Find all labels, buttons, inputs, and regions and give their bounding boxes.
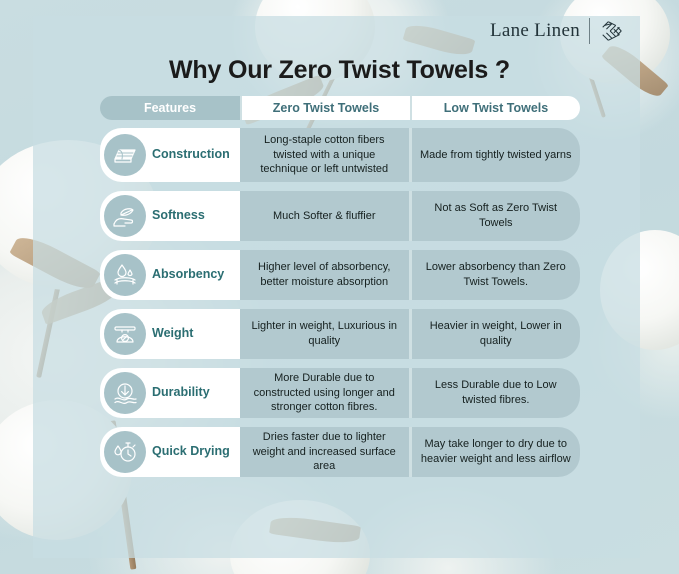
table-row: Construction Long-staple cotton fibers t… [100, 128, 580, 182]
feature-label: Construction [152, 148, 230, 162]
folded-towel-icon [104, 134, 146, 176]
woven-diamond-monogram-icon [599, 18, 625, 44]
feature-label: Absorbency [152, 268, 224, 282]
feature-cell: Absorbency [100, 250, 240, 300]
comparison-table: Features Zero Twist Towels Low Twist Tow… [100, 96, 580, 486]
table-row: Quick Drying Dries faster due to lighter… [100, 427, 580, 477]
page-title: Why Our Zero Twist Towels ? [0, 56, 679, 85]
header-zero-twist-towels: Zero Twist Towels [240, 96, 410, 120]
header-low-twist-towels: Low Twist Towels [410, 96, 580, 120]
cell-low-twist: Lower absorbency than Zero Twist Towels. [409, 250, 581, 300]
feature-cell: Softness [100, 191, 240, 241]
feature-cell: Construction [100, 128, 240, 182]
downward-arrow-waves-icon [104, 372, 146, 414]
cell-zero-twist: Dries faster due to lighter weight and i… [240, 427, 409, 477]
table-row: Weight Lighter in weight, Luxurious in q… [100, 309, 580, 359]
brand-logo: Lane Linen [490, 18, 625, 44]
table-row: Durability More Durable due to construct… [100, 368, 580, 418]
brand-divider [589, 18, 590, 44]
kitchen-scale-icon [104, 313, 146, 355]
cell-zero-twist: More Durable due to constructed using lo… [240, 368, 409, 418]
feature-cell: Durability [100, 368, 240, 418]
cell-low-twist: Made from tightly twisted yarns [409, 128, 581, 182]
stopwatch-droplet-icon [104, 431, 146, 473]
cell-zero-twist: Lighter in weight, Luxurious in quality [240, 309, 409, 359]
feature-label: Durability [152, 386, 210, 400]
cell-low-twist: Not as Soft as Zero Twist Towels [409, 191, 581, 241]
cell-low-twist: Less Durable due to Low twisted fibres. [409, 368, 581, 418]
feature-cell: Quick Drying [100, 427, 240, 477]
water-droplets-absorb-icon [104, 254, 146, 296]
cell-zero-twist: Long-staple cotton fibers twisted with a… [240, 128, 409, 182]
table-row: Absorbency Higher level of absorbency, b… [100, 250, 580, 300]
feature-label: Weight [152, 327, 193, 341]
feature-label: Softness [152, 209, 205, 223]
hand-feather-icon [104, 195, 146, 237]
cell-zero-twist: Much Softer & fluffier [240, 191, 409, 241]
table-row: Softness Much Softer & fluffier Not as S… [100, 191, 580, 241]
feature-label: Quick Drying [152, 445, 230, 459]
cell-zero-twist: Higher level of absorbency, better moist… [240, 250, 409, 300]
feature-cell: Weight [100, 309, 240, 359]
table-header-row: Features Zero Twist Towels Low Twist Tow… [100, 96, 580, 120]
cell-low-twist: May take longer to dry due to heavier we… [409, 427, 581, 477]
cell-low-twist: Heavier in weight, Lower in quality [409, 309, 581, 359]
header-features: Features [100, 96, 240, 120]
brand-name: Lane Linen [490, 20, 580, 42]
